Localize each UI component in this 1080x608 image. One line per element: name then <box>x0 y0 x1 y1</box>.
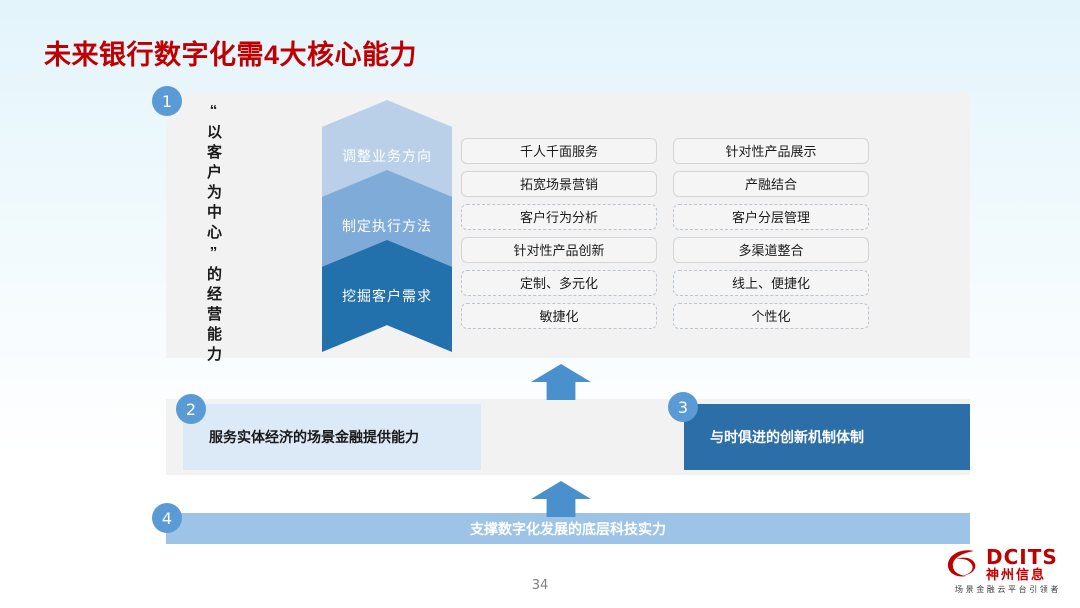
pill-item: 产融结合 <box>673 171 869 197</box>
up-arrow-icon <box>531 364 591 400</box>
pill-item: 多渠道整合 <box>673 237 869 263</box>
pill-item: 线上、便捷化 <box>673 270 869 296</box>
pill-item: 客户行为分析 <box>461 204 657 230</box>
badge-number-1: 1 <box>152 86 182 116</box>
logo-wordmark: DCITS 神州信息 <box>986 547 1058 582</box>
band-two: 服务实体经济的场景金融提供能力 <box>183 404 481 470</box>
pill-item: 针对性产品创新 <box>461 237 657 263</box>
pill-item: 个性化 <box>673 303 869 329</box>
pill-column-left: 千人千面服务 拓宽场景营销 客户行为分析 针对性产品创新 定制、多元化 敏捷化 <box>461 138 657 329</box>
logo-brand-en: DCITS <box>986 547 1058 567</box>
band-four-label: 支撑数字化发展的底层科技实力 <box>470 519 666 539</box>
capability-vertical-label: “以客户为中心”的经营能力 <box>196 102 230 352</box>
logo-top-row: DCITS 神州信息 <box>944 544 1072 584</box>
band-three-label: 与时俱进的创新机制体制 <box>684 427 864 447</box>
chevron-stack: 调整业务方向 制定执行方法 挖掘客户需求 <box>322 100 452 352</box>
pill-item: 定制、多元化 <box>461 270 657 296</box>
badge-number-2: 2 <box>176 394 206 424</box>
band-two-label: 服务实体经济的场景金融提供能力 <box>183 427 419 447</box>
company-logo: DCITS 神州信息 场景金融云平台引领者 <box>944 544 1072 602</box>
page-title: 未来银行数字化需4大核心能力 <box>44 33 417 72</box>
band-four: 支撑数字化发展的底层科技实力 <box>166 513 970 544</box>
dcits-swoosh-icon <box>944 545 984 583</box>
pill-column-right: 针对性产品展示 产融结合 客户分层管理 多渠道整合 线上、便捷化 个性化 <box>673 138 869 329</box>
pill-item: 客户分层管理 <box>673 204 869 230</box>
pill-item: 拓宽场景营销 <box>461 171 657 197</box>
up-arrow-icon <box>531 481 591 517</box>
page-number: 34 <box>0 578 1080 593</box>
badge-number-3: 3 <box>668 392 698 422</box>
pill-item: 千人千面服务 <box>461 138 657 164</box>
band-three: 与时俱进的创新机制体制 <box>684 404 970 470</box>
pill-item: 针对性产品展示 <box>673 138 869 164</box>
pill-item: 敏捷化 <box>461 303 657 329</box>
badge-number-4: 4 <box>152 503 182 533</box>
logo-brand-cn: 神州信息 <box>986 567 1058 582</box>
logo-tagline: 场景金融云平台引领者 <box>944 584 1072 596</box>
